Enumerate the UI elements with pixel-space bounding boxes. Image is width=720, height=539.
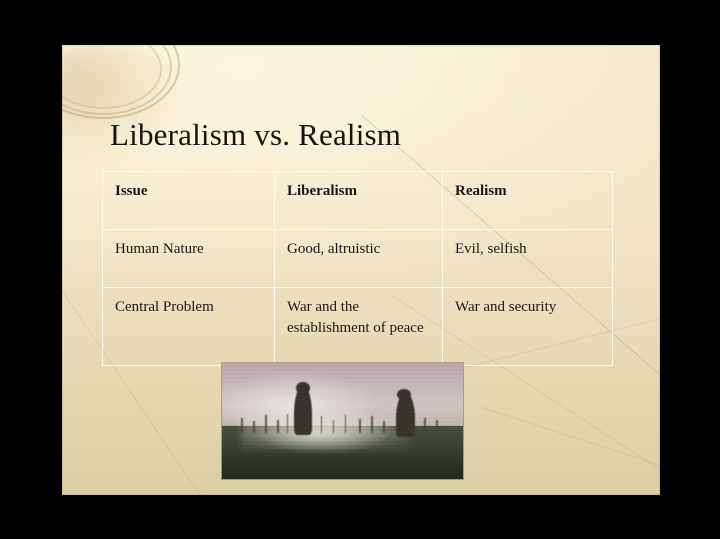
comparison-table-container: Issue Liberalism Realism Human Nature Go… — [102, 171, 612, 366]
table-header-row: Issue Liberalism Realism — [103, 172, 613, 230]
cell-liberalism: Good, altruistic — [275, 230, 443, 288]
cell-realism: Evil, selfish — [443, 230, 613, 288]
table-row: Human Nature Good, altruistic Evil, self… — [103, 230, 613, 288]
table-row: Central Problem War and the establishmen… — [103, 288, 613, 366]
slide-title: Liberalism vs. Realism — [110, 118, 401, 152]
war-field-photo — [222, 363, 463, 479]
map-line-decoration — [482, 407, 660, 470]
column-header-realism: Realism — [443, 172, 613, 230]
photo-grain — [222, 363, 463, 479]
column-header-liberalism: Liberalism — [275, 172, 443, 230]
presentation-slide: Liberalism vs. Realism Issue Liberalism … — [62, 45, 660, 495]
comparison-table: Issue Liberalism Realism Human Nature Go… — [102, 171, 613, 366]
cell-issue: Human Nature — [103, 230, 275, 288]
cell-issue: Central Problem — [103, 288, 275, 366]
cell-realism: War and security — [443, 288, 613, 366]
cell-liberalism: War and the establishment of peace — [275, 288, 443, 366]
column-header-issue: Issue — [103, 172, 275, 230]
slide-viewer: Liberalism vs. Realism Issue Liberalism … — [0, 0, 720, 539]
